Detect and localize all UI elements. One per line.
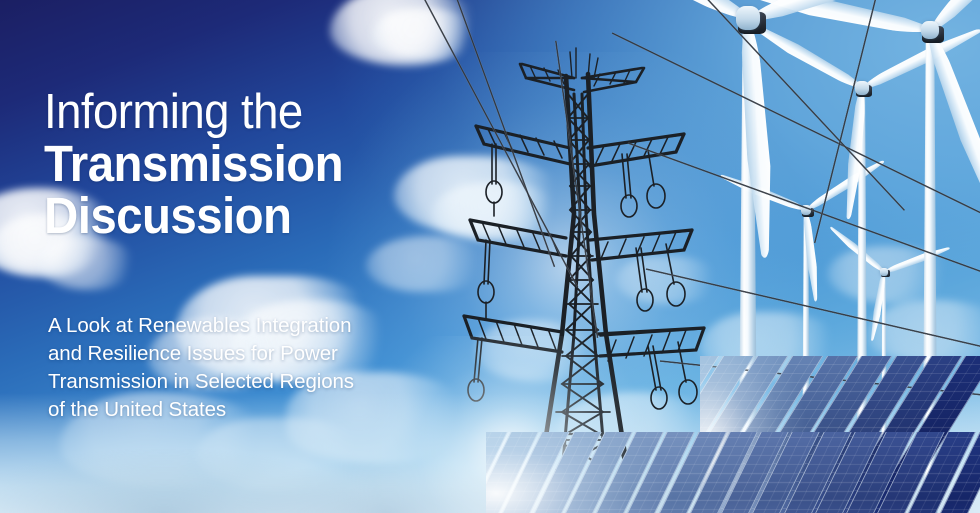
title-line-1: Informing the (44, 88, 435, 139)
power-cable (611, 32, 980, 240)
power-cable (660, 360, 980, 397)
subtitle-line-1: A Look at Renewables Integration (48, 312, 408, 340)
power-cable (555, 41, 598, 338)
title-line-2: Transmission (44, 139, 435, 191)
title-block: Informing the Transmission Discussion (44, 88, 464, 243)
subtitle-line-2: and Resilience Issues for Power (48, 340, 408, 368)
power-cable (451, 0, 555, 267)
power-cable-group (0, 0, 980, 513)
power-cable (628, 142, 980, 281)
subtitle-line-4: of the United States (48, 396, 408, 424)
power-cable (646, 268, 980, 351)
subtitle-block: A Look at Renewables Integration and Res… (48, 312, 408, 424)
cover-image: Informing the Transmission Discussion A … (0, 0, 980, 513)
title-line-3: Discussion (44, 191, 435, 243)
subtitle-line-3: Transmission in Selected Regions (48, 368, 408, 396)
